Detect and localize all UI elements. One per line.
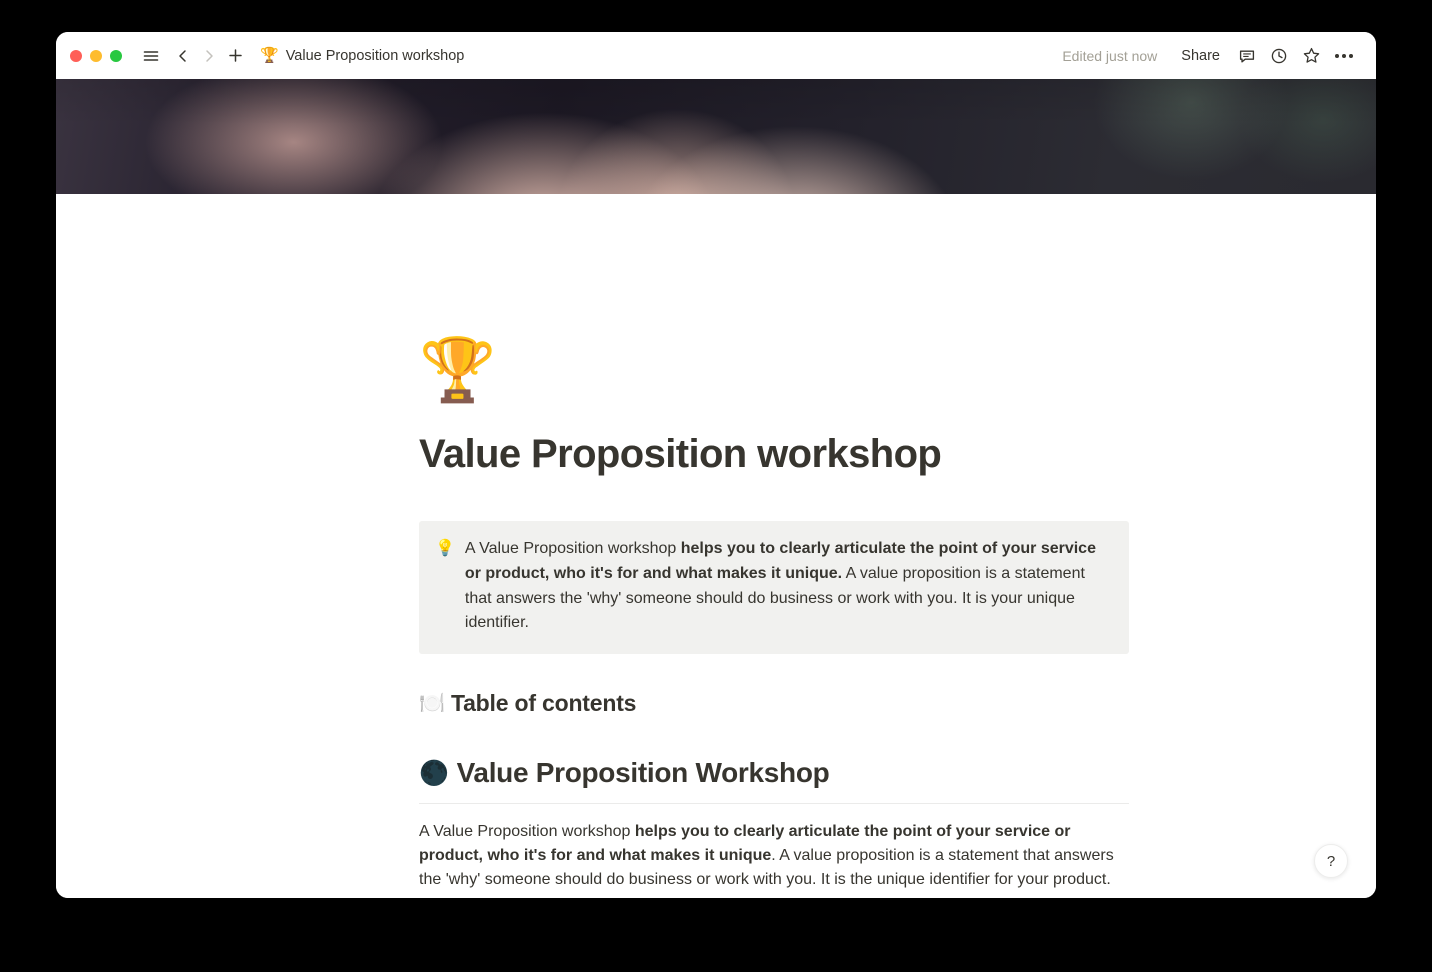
breadcrumb-label: Value Proposition workshop	[286, 48, 465, 64]
trophy-icon: 🏆	[260, 48, 279, 63]
share-button[interactable]: Share	[1173, 44, 1228, 68]
callout-text-lead: A Value Proposition workshop	[465, 540, 681, 557]
forward-icon[interactable]	[196, 43, 222, 69]
edited-status: Edited just now	[1062, 48, 1157, 64]
history-icon[interactable]	[1266, 43, 1292, 69]
window-controls	[70, 50, 122, 62]
title-bar: 🏆 Value Proposition workshop Edited just…	[56, 32, 1376, 79]
star-icon[interactable]	[1298, 43, 1324, 69]
maximize-window-button[interactable]	[110, 50, 122, 62]
page-content: Value Proposition workshop 💡 A Value Pro…	[419, 194, 1129, 898]
lightbulb-icon: 💡	[435, 537, 455, 636]
close-window-button[interactable]	[70, 50, 82, 62]
new-page-icon[interactable]	[222, 43, 248, 69]
new-moon-icon: 🌑	[419, 759, 449, 788]
plate-cutlery-icon: 🍽️	[419, 692, 445, 716]
heading-table-of-contents-label: Table of contents	[451, 690, 636, 717]
heading-value-proposition-workshop-label: Value Proposition Workshop	[457, 757, 830, 789]
page-title[interactable]: Value Proposition workshop	[419, 430, 1129, 478]
heading-value-proposition-workshop[interactable]: 🌑 Value Proposition Workshop	[419, 757, 1129, 804]
page-icon-trophy-icon[interactable]: 🏆	[419, 340, 496, 402]
callout-block[interactable]: 💡 A Value Proposition workshop helps you…	[419, 521, 1129, 654]
minimize-window-button[interactable]	[90, 50, 102, 62]
comment-icon[interactable]	[1234, 43, 1260, 69]
section-paragraph[interactable]: A Value Proposition workshop helps you t…	[419, 820, 1129, 892]
callout-text: A Value Proposition workshop helps you t…	[465, 537, 1113, 636]
app-window: 🏆 Value Proposition workshop Edited just…	[56, 32, 1376, 898]
cover-image[interactable]	[56, 79, 1376, 194]
titlebar-actions: Edited just now Share	[1062, 43, 1358, 69]
more-options-icon[interactable]	[1330, 43, 1358, 69]
breadcrumb[interactable]: 🏆 Value Proposition workshop	[260, 48, 464, 64]
page-scroll-area[interactable]: 🏆 Value Proposition workshop 💡 A Value P…	[56, 194, 1376, 898]
back-icon[interactable]	[170, 43, 196, 69]
heading-table-of-contents[interactable]: 🍽️ Table of contents	[419, 690, 1129, 717]
help-button[interactable]: ?	[1314, 844, 1348, 878]
sidebar-toggle-icon[interactable]	[138, 43, 164, 69]
section-paragraph-lead: A Value Proposition workshop	[419, 823, 635, 840]
